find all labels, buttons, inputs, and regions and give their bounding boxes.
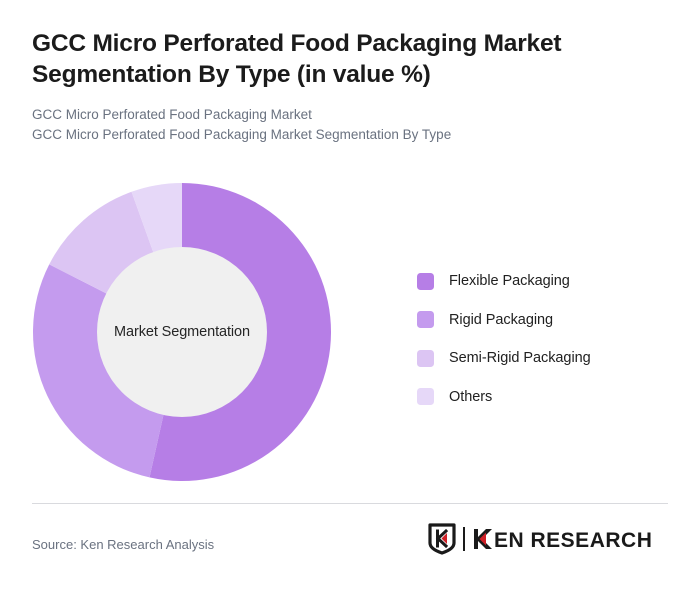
logo-divider — [463, 527, 465, 551]
legend-item-label: Others — [449, 389, 492, 405]
page-title: GCC Micro Perforated Food Packaging Mark… — [32, 28, 652, 91]
legend-item[interactable]: Others — [417, 378, 591, 417]
ken-research-logo: EN RESEARCH — [427, 522, 670, 556]
legend-swatch-icon — [417, 350, 434, 367]
svg-text:EN RESEARCH: EN RESEARCH — [494, 529, 652, 552]
legend-item[interactable]: Rigid Packaging — [417, 301, 591, 340]
subtitle-segmentation: GCC Micro Perforated Food Packaging Mark… — [32, 125, 652, 145]
donut-chart: Market Segmentation — [32, 182, 332, 482]
legend-swatch-icon — [417, 311, 434, 328]
source-note: Source: Ken Research Analysis — [32, 537, 214, 552]
legend-item[interactable]: Flexible Packaging — [417, 262, 591, 301]
donut-center-label: Market Segmentation — [32, 182, 332, 482]
legend-item-label: Semi-Rigid Packaging — [449, 350, 591, 366]
legend-item-label: Rigid Packaging — [449, 312, 553, 328]
ken-research-wordmark: EN RESEARCH — [472, 526, 670, 552]
chart-legend: Flexible PackagingRigid PackagingSemi-Ri… — [417, 262, 591, 416]
chart-header: GCC Micro Perforated Food Packaging Mark… — [32, 28, 652, 145]
footer-divider — [32, 503, 668, 504]
legend-swatch-icon — [417, 273, 434, 290]
subtitle-group: GCC Micro Perforated Food Packaging Mark… — [32, 105, 652, 146]
ken-research-shield-icon — [427, 523, 457, 555]
legend-swatch-icon — [417, 388, 434, 405]
chart-card: GCC Micro Perforated Food Packaging Mark… — [0, 0, 700, 591]
subtitle-market: GCC Micro Perforated Food Packaging Mark… — [32, 105, 652, 125]
legend-item[interactable]: Semi-Rigid Packaging — [417, 339, 591, 378]
legend-item-label: Flexible Packaging — [449, 273, 570, 289]
